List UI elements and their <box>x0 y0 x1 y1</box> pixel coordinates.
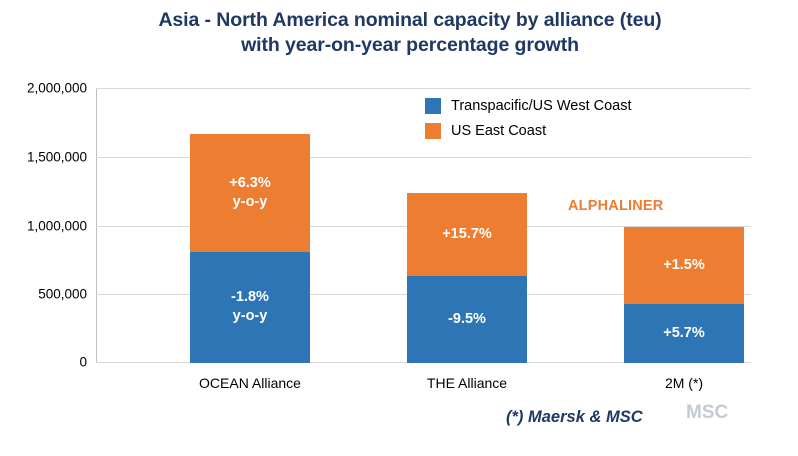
chart-title: Asia - North America nominal capacity by… <box>100 8 720 58</box>
bar-label-2m-east-coast-pct: +1.5% <box>663 256 705 275</box>
x-axis-label-the-alliance: THE Alliance <box>377 375 557 391</box>
bar-segment-the-east-coast[interactable]: +15.7% <box>407 193 527 276</box>
gridline-2000000: 2,000,000 <box>96 88 751 89</box>
bar-segment-the-west-coast[interactable]: -9.5% <box>407 276 527 363</box>
footnote: (*) Maersk & MSC <box>506 408 643 427</box>
bar-segment-2m-west-coast[interactable]: +5.7% <box>624 304 744 363</box>
bar-group-ocean-alliance[interactable]: -1.8% y-o-y +6.3% y-o-y OCEAN Alliance <box>190 134 310 363</box>
watermark-logo: MSC <box>686 402 728 424</box>
bar-label-the-east-coast-pct: +15.7% <box>442 225 492 244</box>
x-axis-label-2m: 2M (*) <box>594 375 774 391</box>
bar-group-2m[interactable]: +5.7% +1.5% 2M (*) <box>624 227 744 363</box>
plot-area: 2,000,000 1,500,000 1,000,000 500,000 0 … <box>96 88 751 363</box>
bar-segment-2m-east-coast[interactable]: +1.5% <box>624 227 744 304</box>
bar-label-ocean-west-coast-yoy: y-o-y <box>233 307 268 326</box>
x-axis-label-ocean-alliance: OCEAN Alliance <box>160 375 340 391</box>
y-tick-label-0: 0 <box>79 355 87 370</box>
chart-title-line-2: with year-on-year percentage growth <box>100 33 720 58</box>
bar-label-the-west-coast-pct: -9.5% <box>448 310 486 329</box>
bar-label-ocean-west-coast-pct: -1.8% <box>231 288 269 307</box>
y-tick-label-500000: 500,000 <box>38 287 87 302</box>
bar-segment-ocean-east-coast[interactable]: +6.3% y-o-y <box>190 134 310 252</box>
bar-label-2m-west-coast-pct: +5.7% <box>663 324 705 343</box>
bar-segment-ocean-west-coast[interactable]: -1.8% y-o-y <box>190 252 310 363</box>
bar-label-ocean-east-coast-pct: +6.3% <box>229 174 271 193</box>
bar-label-ocean-east-coast-yoy: y-o-y <box>233 193 268 212</box>
y-tick-label-1000000: 1,000,000 <box>27 218 87 233</box>
chart-container: Asia - North America nominal capacity by… <box>0 0 798 456</box>
y-tick-label-2000000: 2,000,000 <box>27 81 87 96</box>
y-tick-label-1500000: 1,500,000 <box>27 149 87 164</box>
chart-title-line-1: Asia - North America nominal capacity by… <box>158 9 661 31</box>
bar-group-the-alliance[interactable]: -9.5% +15.7% THE Alliance <box>407 193 527 363</box>
